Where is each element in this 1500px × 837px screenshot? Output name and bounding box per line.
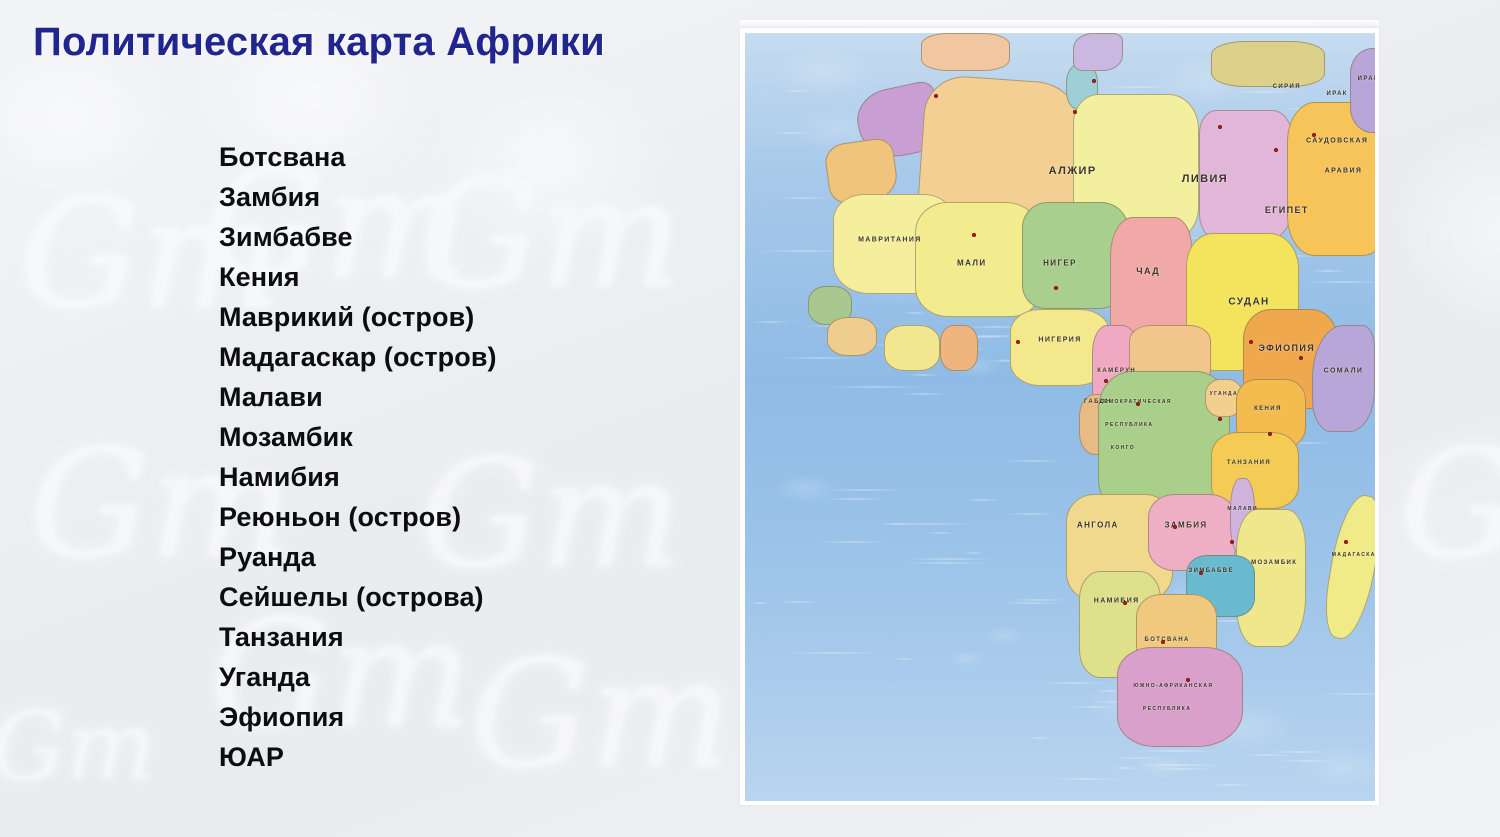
slide-root: Gт Gт Gт Gт Gт Gт Gт Gт Gт Политическая … xyxy=(0,0,1500,837)
ocean-texture-band xyxy=(752,321,790,323)
ocean-texture-band xyxy=(1007,513,1055,515)
africa-political-map-figure: АЛЖИРЛИВИЯЕГИПЕТМАВРИТАНИЯМАЛИНИГЕРЧАДСУ… xyxy=(740,28,1379,805)
ocean-texture-band xyxy=(893,658,915,660)
list-item: Мадагаскар (остров) xyxy=(219,337,497,377)
ocean-texture-blob xyxy=(1135,754,1190,779)
map-city-dot xyxy=(1199,571,1203,575)
map-city-dot xyxy=(1136,402,1140,406)
ocean-texture-band xyxy=(1305,281,1375,283)
ocean-texture-band xyxy=(1310,270,1347,272)
ocean-texture-band xyxy=(904,312,925,314)
country-list: БотсванаЗамбияЗимбабвеКенияМаврикий (ост… xyxy=(219,137,497,777)
map-canvas: АЛЖИРЛИВИЯЕГИПЕТМАВРИТАНИЯМАЛИНИГЕРЧАДСУ… xyxy=(745,33,1375,801)
ocean-texture-band xyxy=(1051,778,1120,780)
ocean-texture-band xyxy=(823,498,888,500)
ocean-texture-band xyxy=(826,386,925,388)
ocean-texture-band xyxy=(780,601,818,603)
map-region-egypt xyxy=(1199,110,1294,241)
map-city-dot xyxy=(1230,540,1234,544)
map-region-iran xyxy=(1350,48,1375,132)
ocean-texture-band xyxy=(1001,602,1061,604)
ocean-texture-band xyxy=(1011,599,1067,601)
ocean-texture-blob xyxy=(1295,746,1375,789)
list-item: ЮАР xyxy=(219,737,497,777)
ocean-texture-blob xyxy=(983,626,1026,645)
ocean-texture-band xyxy=(750,602,770,604)
map-city-dot xyxy=(1218,125,1222,129)
ocean-texture-band xyxy=(964,499,1000,501)
map-region-ivory-coast xyxy=(884,325,941,371)
map-city-dot xyxy=(1344,540,1348,544)
list-item: Намибия xyxy=(219,457,497,497)
ocean-texture-blob xyxy=(770,49,878,98)
ocean-texture-band xyxy=(787,652,881,654)
list-item: Мозамбик xyxy=(219,417,497,457)
list-item: Маврикий (остров) xyxy=(219,297,497,337)
page-title: Политическая карта Африки xyxy=(33,20,605,65)
map-region-guinea xyxy=(827,317,877,355)
ocean-texture-band xyxy=(902,562,989,564)
map-region-turkey xyxy=(1211,41,1324,87)
ocean-texture-blob xyxy=(947,650,984,667)
list-item: Малави xyxy=(219,377,497,417)
list-item: Замбия xyxy=(219,177,497,217)
list-item: Кения xyxy=(219,257,497,297)
map-city-dot xyxy=(972,233,976,237)
map-city-dot xyxy=(1104,379,1108,383)
ocean-texture-band xyxy=(778,357,863,359)
ocean-texture-band xyxy=(1039,682,1108,684)
ocean-texture-band xyxy=(964,552,984,554)
map-city-dot xyxy=(1073,110,1077,114)
map-city-dot xyxy=(1092,79,1096,83)
ocean-texture-band xyxy=(1242,754,1290,756)
map-region-somalia xyxy=(1312,325,1375,433)
ocean-texture-band xyxy=(1026,737,1051,739)
list-item: Эфиопия xyxy=(219,697,497,737)
list-item: Сейшелы (острова) xyxy=(219,577,497,617)
map-city-dot xyxy=(1218,417,1222,421)
map-city-dot xyxy=(1173,525,1177,529)
ocean-texture-band xyxy=(1318,693,1375,695)
list-item: Реюньон (остров) xyxy=(219,497,497,537)
map-region-south-africa xyxy=(1117,647,1243,747)
map-region-italy xyxy=(1073,33,1123,71)
list-item: Ботсвана xyxy=(219,137,497,177)
map-city-dot xyxy=(1312,133,1316,137)
map-label: ИРАК xyxy=(1326,91,1347,97)
map-city-dot xyxy=(1161,640,1165,644)
ocean-texture-band xyxy=(817,541,887,543)
ocean-texture-band xyxy=(826,489,906,491)
ocean-texture-band xyxy=(1210,784,1252,786)
ocean-texture-band xyxy=(906,558,994,560)
ocean-texture-band xyxy=(780,197,827,199)
map-region-madagascar xyxy=(1319,491,1375,642)
map-region-spain xyxy=(921,33,1009,71)
list-item: Зимбабве xyxy=(219,217,497,257)
ocean-texture-band xyxy=(878,523,914,525)
map-top-fade xyxy=(740,20,1379,28)
map-region-ghana xyxy=(940,325,978,371)
ocean-texture-band xyxy=(907,374,941,376)
ocean-texture-band xyxy=(900,393,948,395)
ocean-texture-band xyxy=(1129,750,1224,752)
ocean-texture-band xyxy=(927,532,954,534)
ocean-texture-band xyxy=(1004,460,1062,462)
list-item: Руанда xyxy=(219,537,497,577)
list-item: Уганда xyxy=(219,657,497,697)
list-item: Танзания xyxy=(219,617,497,657)
